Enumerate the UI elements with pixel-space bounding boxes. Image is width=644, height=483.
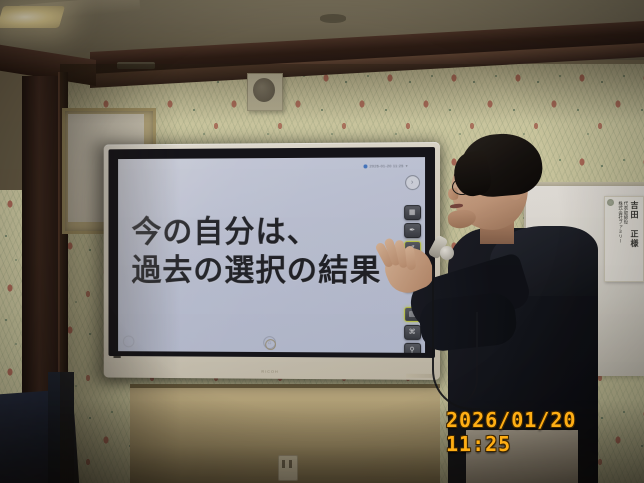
placard-seal-icon bbox=[607, 199, 614, 206]
wood-column bbox=[22, 76, 60, 396]
placard-title: 代表取締役 bbox=[624, 201, 628, 225]
microphone-cable bbox=[444, 312, 478, 408]
status-dot-icon bbox=[363, 164, 367, 168]
name-placard: 吉田 正様 代表取締役 株式会社ファミリー bbox=[604, 196, 644, 282]
placard-name: 吉田 正様 bbox=[630, 201, 638, 249]
photo-scene: 吉田 正様 代表取締役 株式会社ファミリー 2026-01-20 11:25 ▾… bbox=[0, 0, 644, 483]
placard-company: 株式会社ファミリー bbox=[618, 201, 622, 243]
ceiling-light bbox=[0, 6, 65, 28]
ceiling-vent-icon bbox=[320, 14, 346, 23]
presenter-chin bbox=[447, 209, 477, 230]
photo-timestamp: 2026/01/20 11:25 bbox=[446, 408, 644, 456]
screen-clock: 2026-01-20 11:25 bbox=[369, 163, 403, 168]
